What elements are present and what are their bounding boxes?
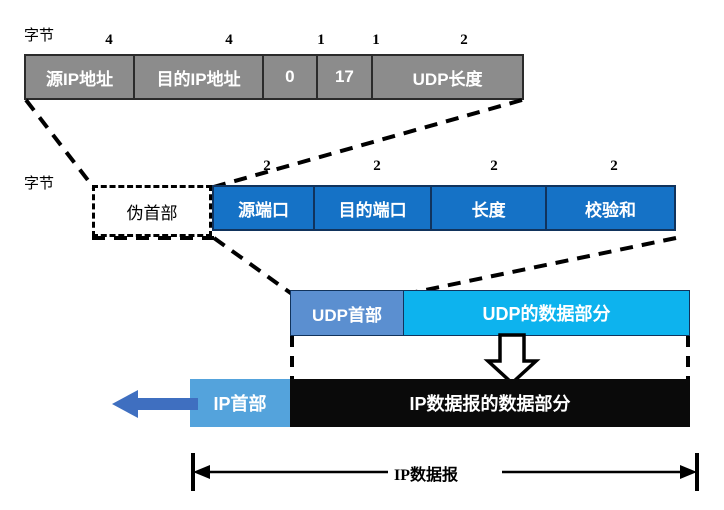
pseudo-size-3: 1 (348, 32, 404, 49)
transmit-left-arrow-icon (112, 387, 198, 421)
pseudo-field-udp-length: UDP长度 (373, 56, 522, 98)
bytes-label-middle: 字节 (24, 172, 54, 193)
ip-datagram-row: IP首部 IP数据报的数据部分 (190, 379, 690, 427)
pseudo-header-box-label: 伪首部 (127, 199, 178, 224)
encapsulation-drop-lines (0, 336, 724, 384)
udp-size-3: 2 (552, 158, 676, 175)
udp-field-length: 长度 (432, 187, 547, 229)
ip-datagram-header-segment: IP首部 (190, 379, 290, 427)
udp-datagram-row: UDP首部 UDP的数据部分 (290, 290, 690, 336)
pseudo-header-box: 伪首部 (92, 185, 212, 237)
pseudo-field-zero: 0 (264, 56, 318, 98)
encapsulation-arrow-down-icon (482, 333, 542, 385)
udp-size-2: 2 (436, 158, 552, 175)
bytes-label-top: 字节 (24, 24, 54, 45)
connector-udp-to-datagram (0, 236, 724, 298)
connector-pseudo-to-box (0, 96, 724, 196)
udp-datagram-data-segment: UDP的数据部分 (404, 291, 689, 335)
udp-field-dest-port: 目的端口 (315, 187, 432, 229)
udp-size-1: 2 (318, 158, 436, 175)
udp-datagram-header-segment: UDP首部 (291, 291, 404, 335)
ip-datagram-dimension-label: IP数据报 (388, 461, 464, 485)
udp-size-0: 2 (216, 158, 318, 175)
pseudo-header-fields-row: 源IP地址 目的IP地址 0 17 UDP长度 (24, 54, 524, 100)
pseudo-size-2: 1 (294, 32, 348, 49)
diagram-canvas: 字节 4 4 1 1 2 源IP地址 目的IP地址 0 17 UDP长度 字节 … (0, 0, 724, 510)
udp-field-source-port: 源端口 (214, 187, 315, 229)
pseudo-size-4: 2 (404, 32, 524, 49)
ip-datagram-data-segment: IP数据报的数据部分 (290, 379, 690, 427)
pseudo-size-1: 4 (164, 32, 294, 49)
pseudo-field-dest-ip: 目的IP地址 (135, 56, 264, 98)
pseudo-field-protocol: 17 (318, 56, 374, 98)
pseudo-field-source-ip: 源IP地址 (26, 56, 135, 98)
pseudo-size-0: 4 (54, 32, 164, 49)
udp-header-fields-row: 源端口 目的端口 长度 校验和 (212, 185, 676, 231)
udp-field-checksum: 校验和 (547, 187, 674, 229)
